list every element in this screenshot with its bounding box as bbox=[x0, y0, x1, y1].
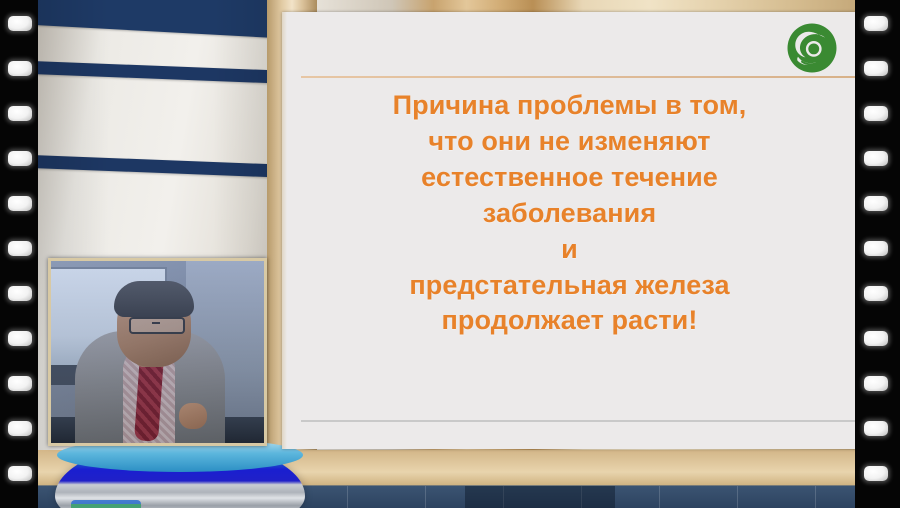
film-sprocket-hole bbox=[864, 376, 888, 391]
slide-line-1: Причина проблемы в том, bbox=[302, 88, 837, 124]
film-sprocket-hole bbox=[8, 61, 32, 76]
slide-line-4: заболевания bbox=[302, 196, 837, 232]
film-sprocket-hole bbox=[8, 421, 32, 436]
slide-left-edge bbox=[282, 12, 287, 449]
film-sprocket-hole bbox=[8, 151, 32, 166]
film-sprocket-hole bbox=[864, 196, 888, 211]
film-sprocket-hole bbox=[8, 376, 32, 391]
slide-line-6: предстательная железа bbox=[302, 268, 837, 304]
film-sprocket-hole bbox=[864, 151, 888, 166]
film-sprocket-hole bbox=[8, 106, 32, 121]
film-sprocket-hole bbox=[8, 466, 32, 481]
inset-color-overlay bbox=[51, 261, 264, 443]
film-sprocket-hole bbox=[8, 286, 32, 301]
film-strip-left bbox=[0, 0, 38, 508]
presenter-video-inset[interactable] bbox=[48, 258, 267, 446]
film-sprocket-hole bbox=[864, 421, 888, 436]
film-sprocket-hole bbox=[864, 331, 888, 346]
film-sprocket-hole bbox=[8, 196, 32, 211]
slide-line-2: что они не изменяют bbox=[302, 124, 837, 160]
studio-floor-shadow bbox=[465, 486, 615, 508]
presentation-slide: Причина проблемы в том, что они не измен… bbox=[282, 12, 857, 449]
slide-line-5: и bbox=[302, 232, 837, 268]
film-sprocket-hole bbox=[864, 241, 888, 256]
slide-line-3: естественное течение bbox=[302, 160, 837, 196]
slide-bottom-rule bbox=[301, 420, 857, 422]
film-sprocket-hole bbox=[864, 61, 888, 76]
film-sprocket-hole bbox=[8, 331, 32, 346]
slide-body-text: Причина проблемы в том, что они не измен… bbox=[302, 88, 837, 339]
film-sprocket-hole bbox=[864, 16, 888, 31]
studio-desk-accent bbox=[71, 500, 141, 508]
film-sprocket-hole bbox=[8, 241, 32, 256]
slide-top-rule bbox=[301, 76, 857, 78]
film-sprocket-hole bbox=[864, 106, 888, 121]
film-strip-right bbox=[855, 0, 900, 508]
film-sprocket-hole bbox=[864, 286, 888, 301]
film-sprocket-hole bbox=[864, 466, 888, 481]
screenshot-stage: Причина проблемы в том, что они не измен… bbox=[0, 0, 900, 508]
green-circular-e-leaf-logo bbox=[784, 20, 840, 76]
film-sprocket-hole bbox=[8, 16, 32, 31]
slide-line-7: продолжает расти! bbox=[302, 303, 837, 339]
